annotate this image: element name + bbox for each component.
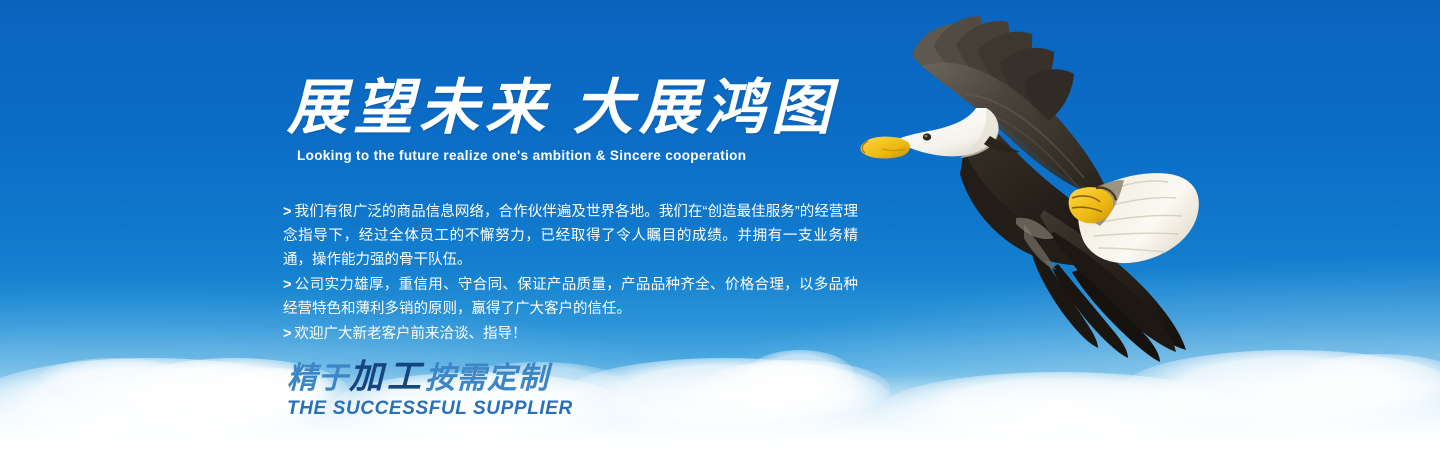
headline-part-1: 展望未来 xyxy=(287,73,551,143)
headline-part-2: 大展鸿图 xyxy=(573,73,837,143)
page-title: 展望未来大展鸿图 xyxy=(287,76,837,140)
hero-banner: 展望未来大展鸿图 Looking to the future realize o… xyxy=(0,0,1440,450)
slogan-part-1: 精于 xyxy=(287,361,349,396)
paragraph-text: 欢迎广大新老客户前来洽谈、指导！ xyxy=(294,326,526,342)
slogan-chinese: 精于加工按需定制 xyxy=(287,360,573,396)
slogan-part-3: 按需定制 xyxy=(425,361,549,396)
slogan-part-2: 加工 xyxy=(349,357,425,397)
paragraph-text: 我们有很广泛的商品信息网络，合作伙伴遍及世界各地。我们在“创造最佳服务”的经营理… xyxy=(283,204,858,268)
cloud-haze xyxy=(0,375,1440,450)
bald-eagle-image xyxy=(848,2,1208,382)
subtitle: Looking to the future realize one's ambi… xyxy=(297,148,746,163)
bullet-marker: > xyxy=(283,277,291,293)
company-slogan: 精于加工按需定制 THE SUCCESSFUL SUPPLIER xyxy=(287,360,573,420)
bullet-marker: > xyxy=(283,204,291,220)
bullet-marker: > xyxy=(283,326,291,342)
description-paragraph: >我们有很广泛的商品信息网络，合作伙伴遍及世界各地。我们在“创造最佳服务”的经营… xyxy=(283,200,858,272)
paragraph-text: 公司实力雄厚，重信用、守合同、保证产品质量，产品品种齐全、价格合理，以多品种经营… xyxy=(283,277,858,317)
slogan-english: THE SUCCESSFUL SUPPLIER xyxy=(287,398,573,420)
description-list: >我们有很广泛的商品信息网络，合作伙伴遍及世界各地。我们在“创造最佳服务”的经营… xyxy=(283,200,858,347)
description-paragraph: >欢迎广大新老客户前来洽谈、指导！ xyxy=(283,322,858,346)
description-paragraph: >公司实力雄厚，重信用、守合同、保证产品质量，产品品种齐全、价格合理，以多品种经… xyxy=(283,273,858,321)
